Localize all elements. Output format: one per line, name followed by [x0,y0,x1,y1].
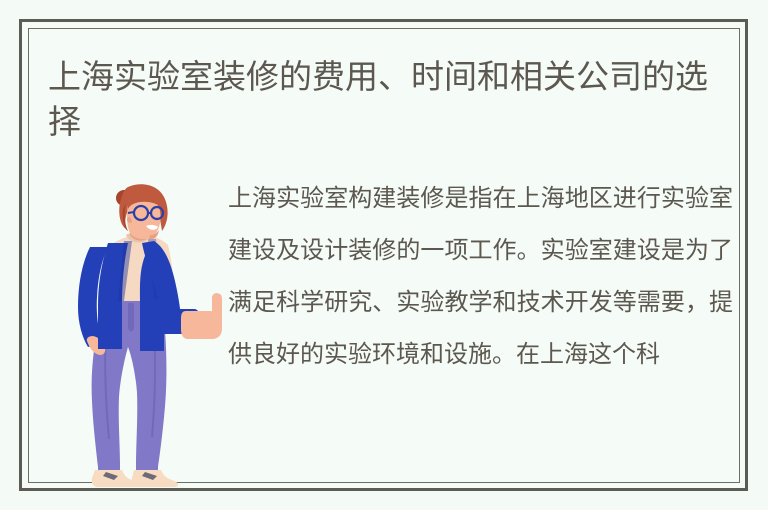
woman-with-glasses-thumbs-up-illustration [62,181,222,491]
article-card: 上海实验室装修的费用、时间和相关公司的选择 [28,28,740,483]
page-root: 上海实验室装修的费用、时间和相关公司的选择 [0,0,768,510]
shoe-right [132,470,178,487]
article-paragraph: 上海实验室构建装修是指在上海地区进行实验室建设及设计装修的一项工作。实验室建设是… [228,173,733,381]
thumb [212,293,221,315]
page-title: 上海实验室装修的费用、时间和相关公司的选择 [48,54,720,144]
pants-fly [128,303,134,332]
article-body-area: 上海实验室构建装修是指在上海地区进行实验室建设及设计装修的一项工作。实验室建设是… [28,173,740,483]
